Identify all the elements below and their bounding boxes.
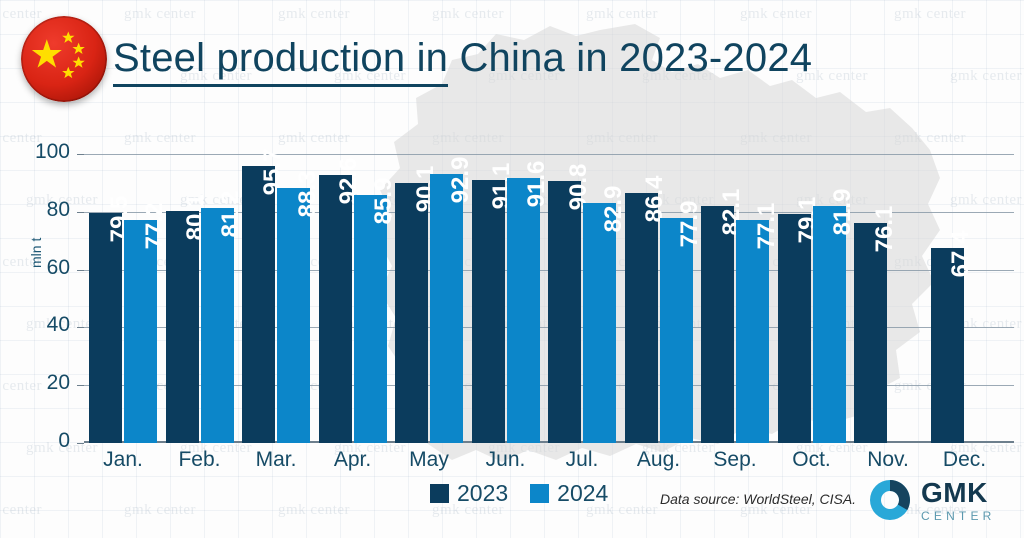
x-axis-tick-label: Apr.: [319, 448, 387, 472]
data-source-note: Data source: WorldSteel, CISA.: [660, 491, 856, 507]
bar-value-label: 81.9: [829, 189, 857, 236]
bar-value-label: 77.2: [141, 202, 169, 249]
bar-value-label: 85.9: [370, 177, 398, 224]
bar[interactable]: 79.5: [89, 213, 122, 443]
legend-item-2024[interactable]: 2024: [530, 480, 608, 507]
y-axis-tick: [77, 212, 84, 213]
legend-swatch-2023: [430, 484, 449, 503]
legend-label-2023: 2023: [457, 480, 508, 507]
bar-group: 86.477.9Aug.: [625, 138, 693, 443]
plot-area: 02040608010079.577.2Jan.80.181.2Feb.95.7…: [84, 138, 1014, 443]
bar-group: 82.177.1Sep.: [701, 138, 769, 443]
page-title: Steel production in China in 2023-2024: [113, 36, 812, 81]
bar[interactable]: 88.3: [277, 188, 310, 443]
bar-group: 90.192.9May: [395, 138, 463, 443]
bar[interactable]: 82.1: [701, 206, 734, 443]
bar[interactable]: 82.9: [583, 203, 616, 443]
logo-subtitle: CENTER: [921, 510, 996, 522]
x-axis-tick-label: Feb.: [166, 448, 234, 472]
bar[interactable]: 85.9: [354, 195, 387, 443]
china-flag-icon: [21, 16, 107, 102]
bar[interactable]: 92.9: [430, 174, 463, 443]
bar-group: 79.577.2Jan.: [89, 138, 157, 443]
bar[interactable]: 77.9: [660, 218, 693, 443]
watermark-text: gmk center: [894, 6, 966, 23]
legend-label-2024: 2024: [557, 480, 608, 507]
bar-group: 92.685.9Apr.: [319, 138, 387, 443]
x-axis-tick-label: Dec.: [931, 448, 999, 472]
y-axis-tick-label: 60: [8, 256, 70, 280]
gmk-donut-icon: [868, 478, 912, 522]
watermark-text: gmk center: [432, 6, 504, 23]
x-axis-tick-label: Oct.: [778, 448, 846, 472]
legend-item-2023[interactable]: 2023: [430, 480, 508, 507]
bar[interactable]: 90.8: [548, 181, 581, 444]
bar[interactable]: 92.6: [319, 175, 352, 443]
bar-value-label: 77.9: [676, 200, 704, 247]
watermark-text: gmk center: [0, 502, 42, 519]
bar-group: 67.4Dec.: [931, 138, 999, 443]
bar-value-label: 88.3: [294, 170, 322, 217]
y-axis-tick-label: 80: [8, 198, 70, 222]
bar-value-label: 67.4: [947, 231, 975, 278]
bar-group: 79.181.9Oct.: [778, 138, 846, 443]
page-title-underlined: Steel production in: [113, 36, 448, 87]
bar-group: 76.1Nov.: [854, 138, 922, 443]
x-axis-tick-label: Jun.: [472, 448, 540, 472]
x-axis-tick-label: Jan.: [89, 448, 157, 472]
watermark-text: gmk center: [0, 6, 42, 23]
bar[interactable]: 86.4: [625, 193, 658, 443]
x-axis-tick-label: Aug.: [625, 448, 693, 472]
bar-value-label: 81.2: [217, 191, 245, 238]
bar-value-label: 76.1: [871, 206, 899, 253]
bar[interactable]: 77.1: [736, 220, 769, 443]
watermark-text: gmk center: [278, 502, 350, 519]
watermark-text: gmk center: [124, 6, 196, 23]
bar-group: 80.181.2Feb.: [166, 138, 234, 443]
bar[interactable]: 95.7: [242, 166, 275, 443]
logo-title: GMK: [921, 479, 996, 507]
y-axis-tick: [77, 270, 84, 271]
bar-value-label: 77.1: [753, 203, 781, 250]
y-axis-tick: [77, 154, 84, 155]
bar-group: 91.191.6Jun.: [472, 138, 540, 443]
y-axis-tick: [77, 443, 84, 444]
y-axis-tick-label: 40: [8, 313, 70, 337]
y-axis-tick-label: 0: [8, 429, 70, 453]
watermark-text: gmk center: [950, 68, 1022, 85]
legend-swatch-2024: [530, 484, 549, 503]
bar-value-label: 91.6: [523, 161, 551, 208]
watermark-text: gmk center: [124, 502, 196, 519]
x-axis-tick-label: May: [395, 448, 463, 472]
y-axis-tick: [77, 385, 84, 386]
bar[interactable]: 67.4: [931, 248, 964, 443]
x-axis-tick-label: Mar.: [242, 448, 310, 472]
y-axis-tick-label: 100: [8, 140, 70, 164]
x-axis-tick-label: Nov.: [854, 448, 922, 472]
bar-value-label: 92.9: [447, 157, 475, 204]
bar[interactable]: 91.6: [507, 178, 540, 443]
x-axis-tick-label: Jul.: [548, 448, 616, 472]
page-title-rest: China in 2023-2024: [448, 36, 812, 80]
bar[interactable]: 76.1: [854, 223, 887, 443]
chart-canvas: gmk centergmk centergmk centergmk center…: [0, 0, 1024, 538]
bar[interactable]: 91.1: [472, 180, 505, 443]
bar[interactable]: 81.2: [201, 208, 234, 443]
bar[interactable]: 80.1: [166, 211, 199, 443]
y-axis-tick: [77, 327, 84, 328]
bar-group: 90.882.9Jul.: [548, 138, 616, 443]
bar[interactable]: 90.1: [395, 183, 428, 443]
bar-group: 95.788.3Mar.: [242, 138, 310, 443]
bar[interactable]: 79.1: [778, 214, 811, 443]
bar-value-label: 86.4: [641, 176, 669, 223]
logo-text: GMK CENTER: [921, 479, 996, 522]
gmk-center-logo[interactable]: GMK CENTER: [868, 478, 996, 522]
legend: 2023 2024: [430, 480, 608, 507]
watermark-text: gmk center: [278, 6, 350, 23]
watermark-text: gmk center: [586, 6, 658, 23]
y-axis-tick-label: 20: [8, 371, 70, 395]
watermark-text: gmk center: [740, 6, 812, 23]
x-axis-tick-label: Sep.: [701, 448, 769, 472]
bar[interactable]: 81.9: [813, 206, 846, 443]
bar[interactable]: 77.2: [124, 220, 157, 443]
bar-value-label: 82.9: [600, 186, 628, 233]
